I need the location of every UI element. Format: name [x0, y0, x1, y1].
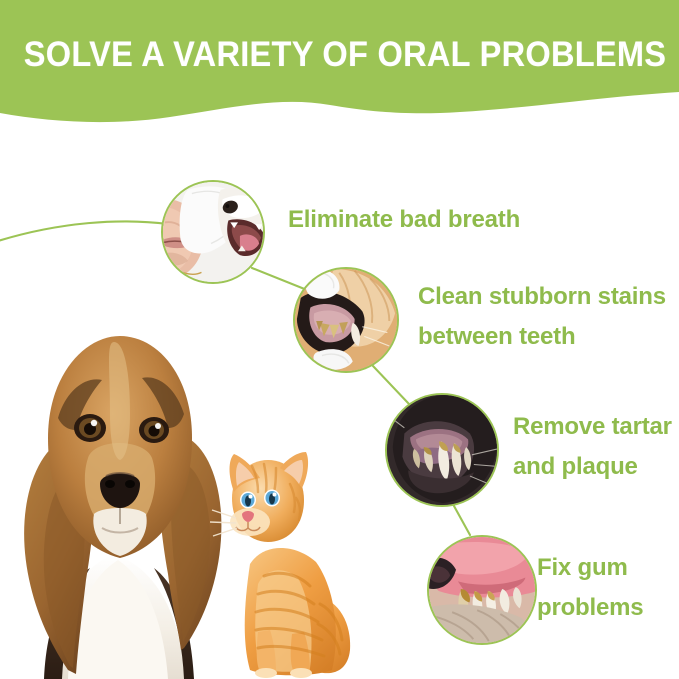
- feature-label-tartar: Remove tartar and plaque: [513, 407, 672, 487]
- gum-problems-illustration: [429, 537, 535, 643]
- stained-teeth-illustration: [295, 269, 397, 371]
- feature-photo-bad-breath[interactable]: [161, 180, 265, 284]
- page-title: SOLVE A VARIETY OF ORAL PROBLEMS: [24, 34, 655, 76]
- feature-photo-stains[interactable]: [293, 267, 399, 373]
- feature-photo-tartar[interactable]: [385, 393, 499, 507]
- cat-photo: [206, 444, 362, 679]
- feature-label-stains: Clean stubborn stains between teeth: [418, 277, 666, 357]
- feature-label-gums: Fix gum problems: [537, 548, 643, 628]
- feature-label-bad-breath: Eliminate bad breath: [288, 200, 520, 240]
- infographic-canvas: SOLVE A VARIETY OF ORAL PROBLEMS: [0, 0, 679, 679]
- feature-photo-gums[interactable]: [427, 535, 537, 645]
- tartar-teeth-illustration: [387, 395, 497, 505]
- bad-breath-illustration: [163, 182, 263, 282]
